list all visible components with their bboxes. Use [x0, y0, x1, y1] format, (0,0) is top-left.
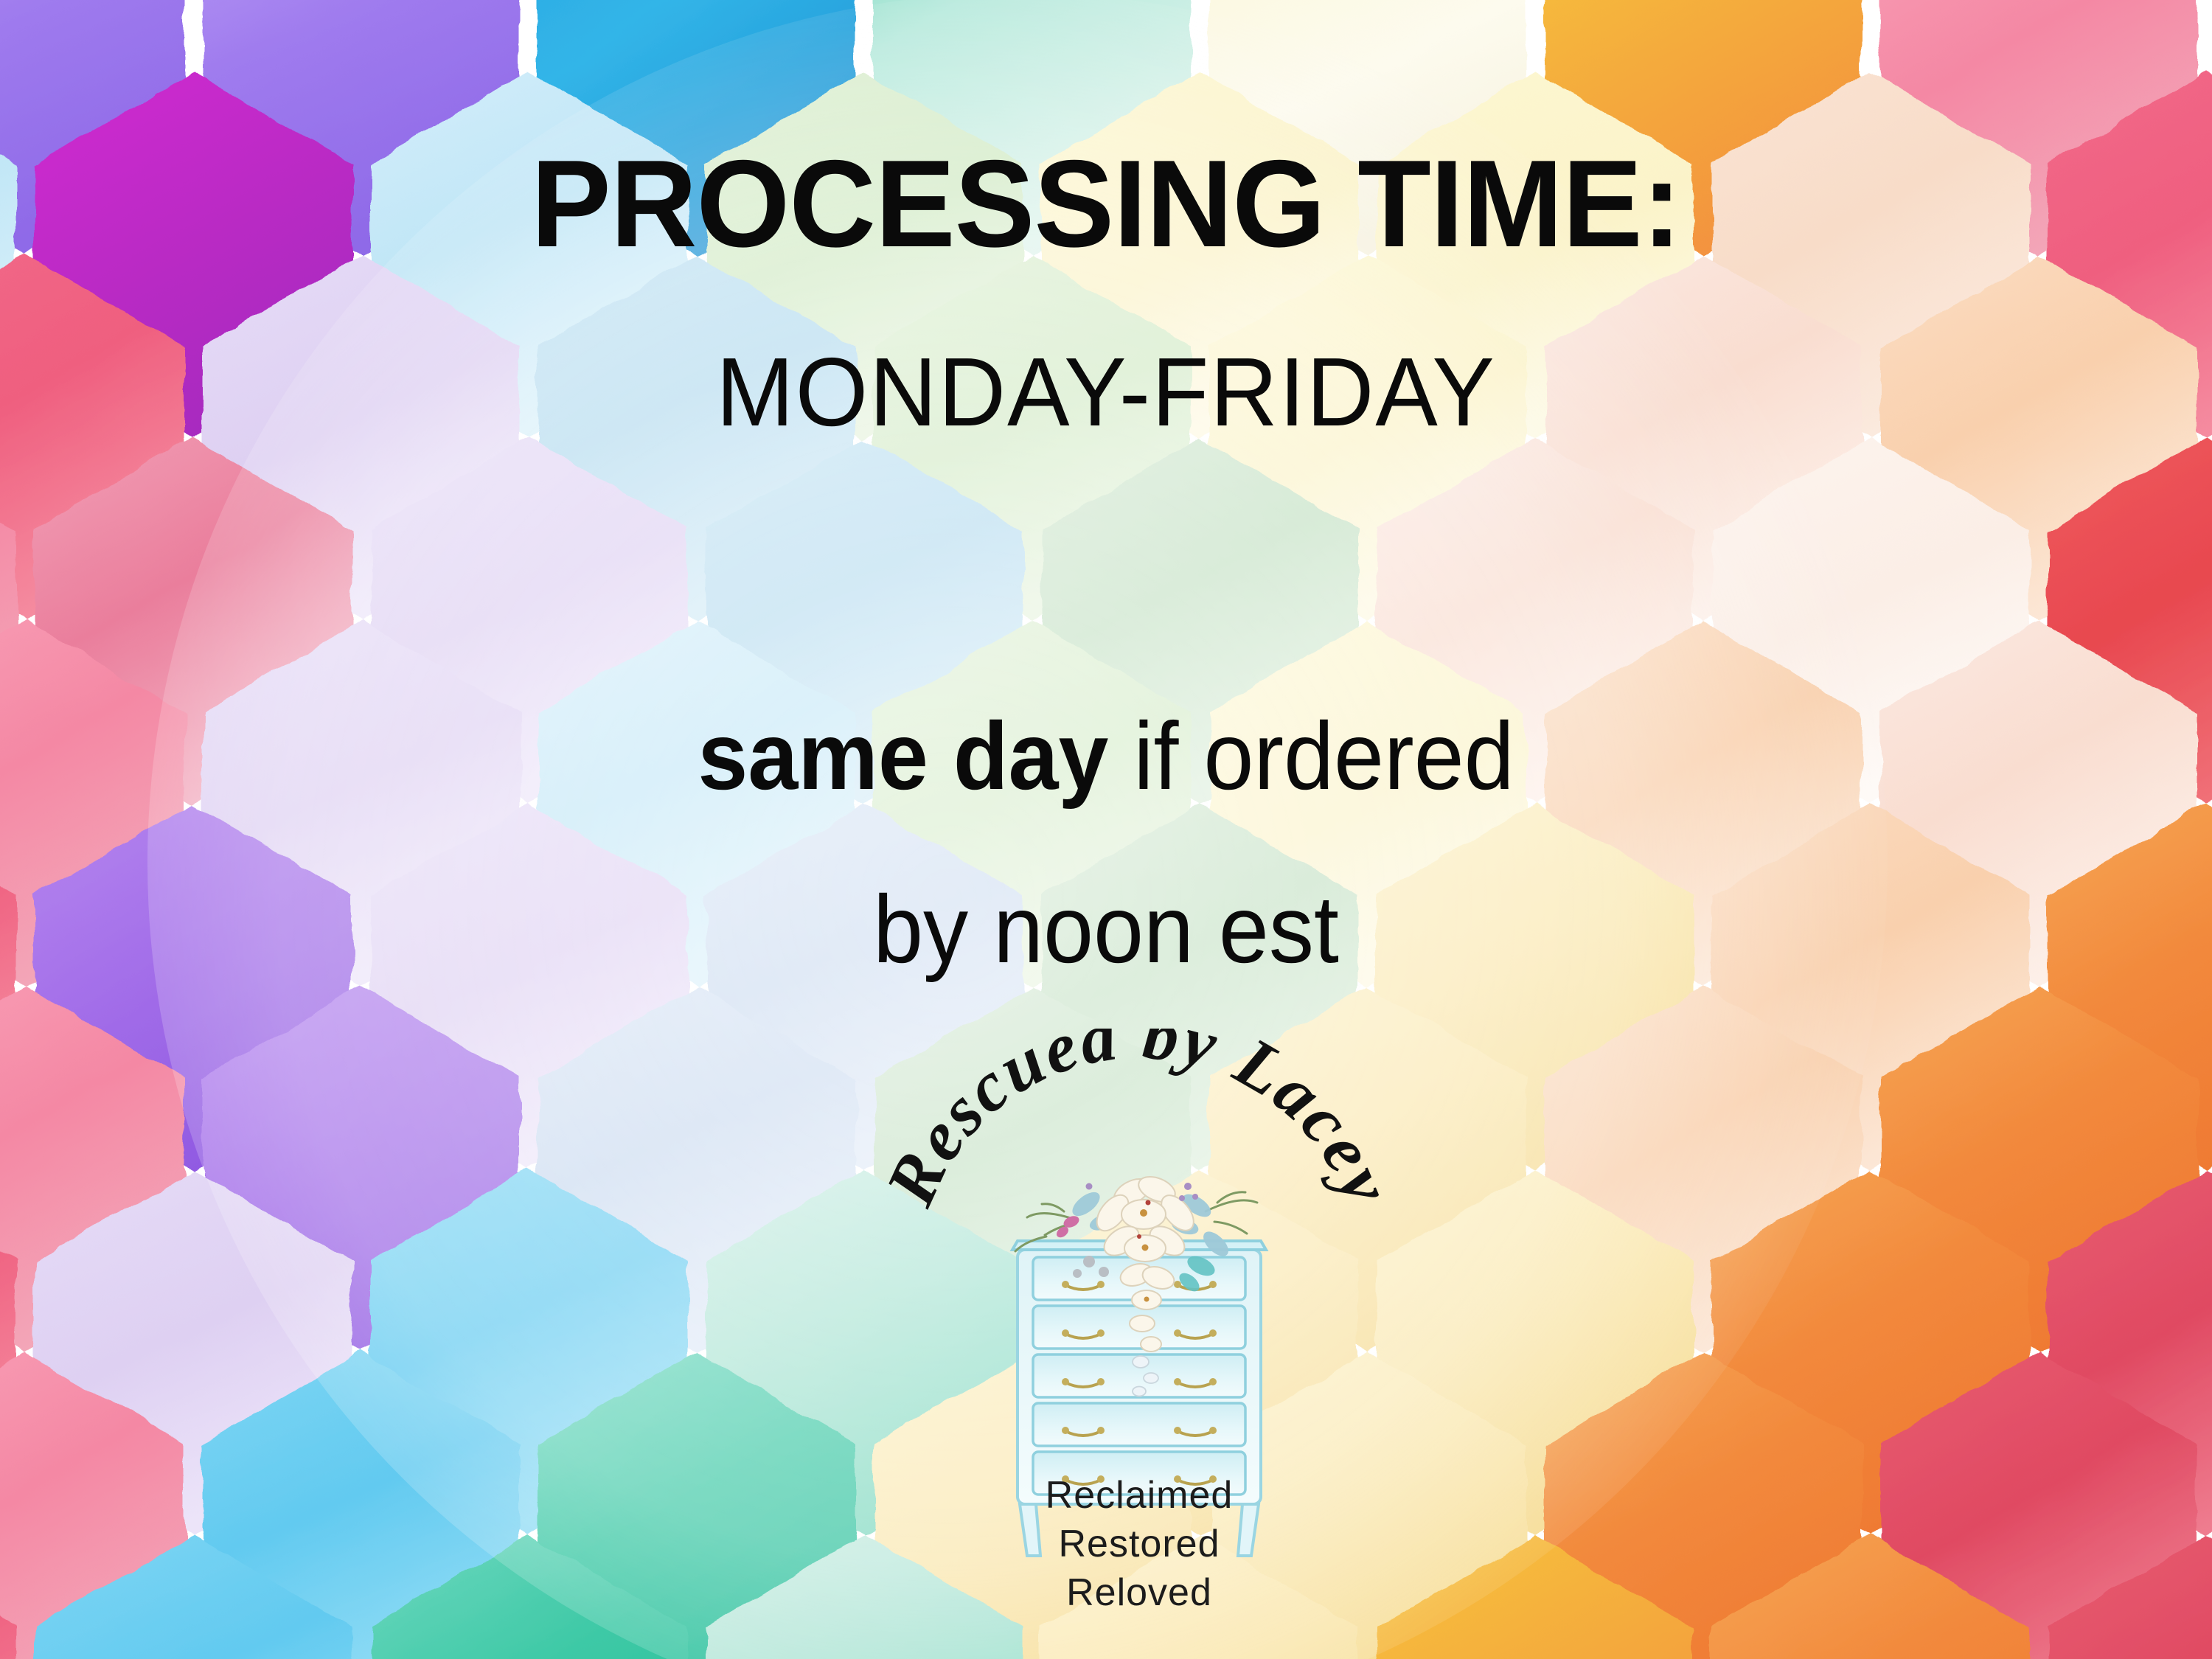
- poster-canvas: PROCESSING TIME: MONDAY-FRIDAY same day …: [0, 0, 2212, 1659]
- logo-tagline-line-1: Reclaimed: [888, 1476, 1390, 1514]
- logo-tagline-line-2: Restored: [888, 1525, 1390, 1563]
- logo-tagline-line-3: Reloved: [888, 1573, 1390, 1612]
